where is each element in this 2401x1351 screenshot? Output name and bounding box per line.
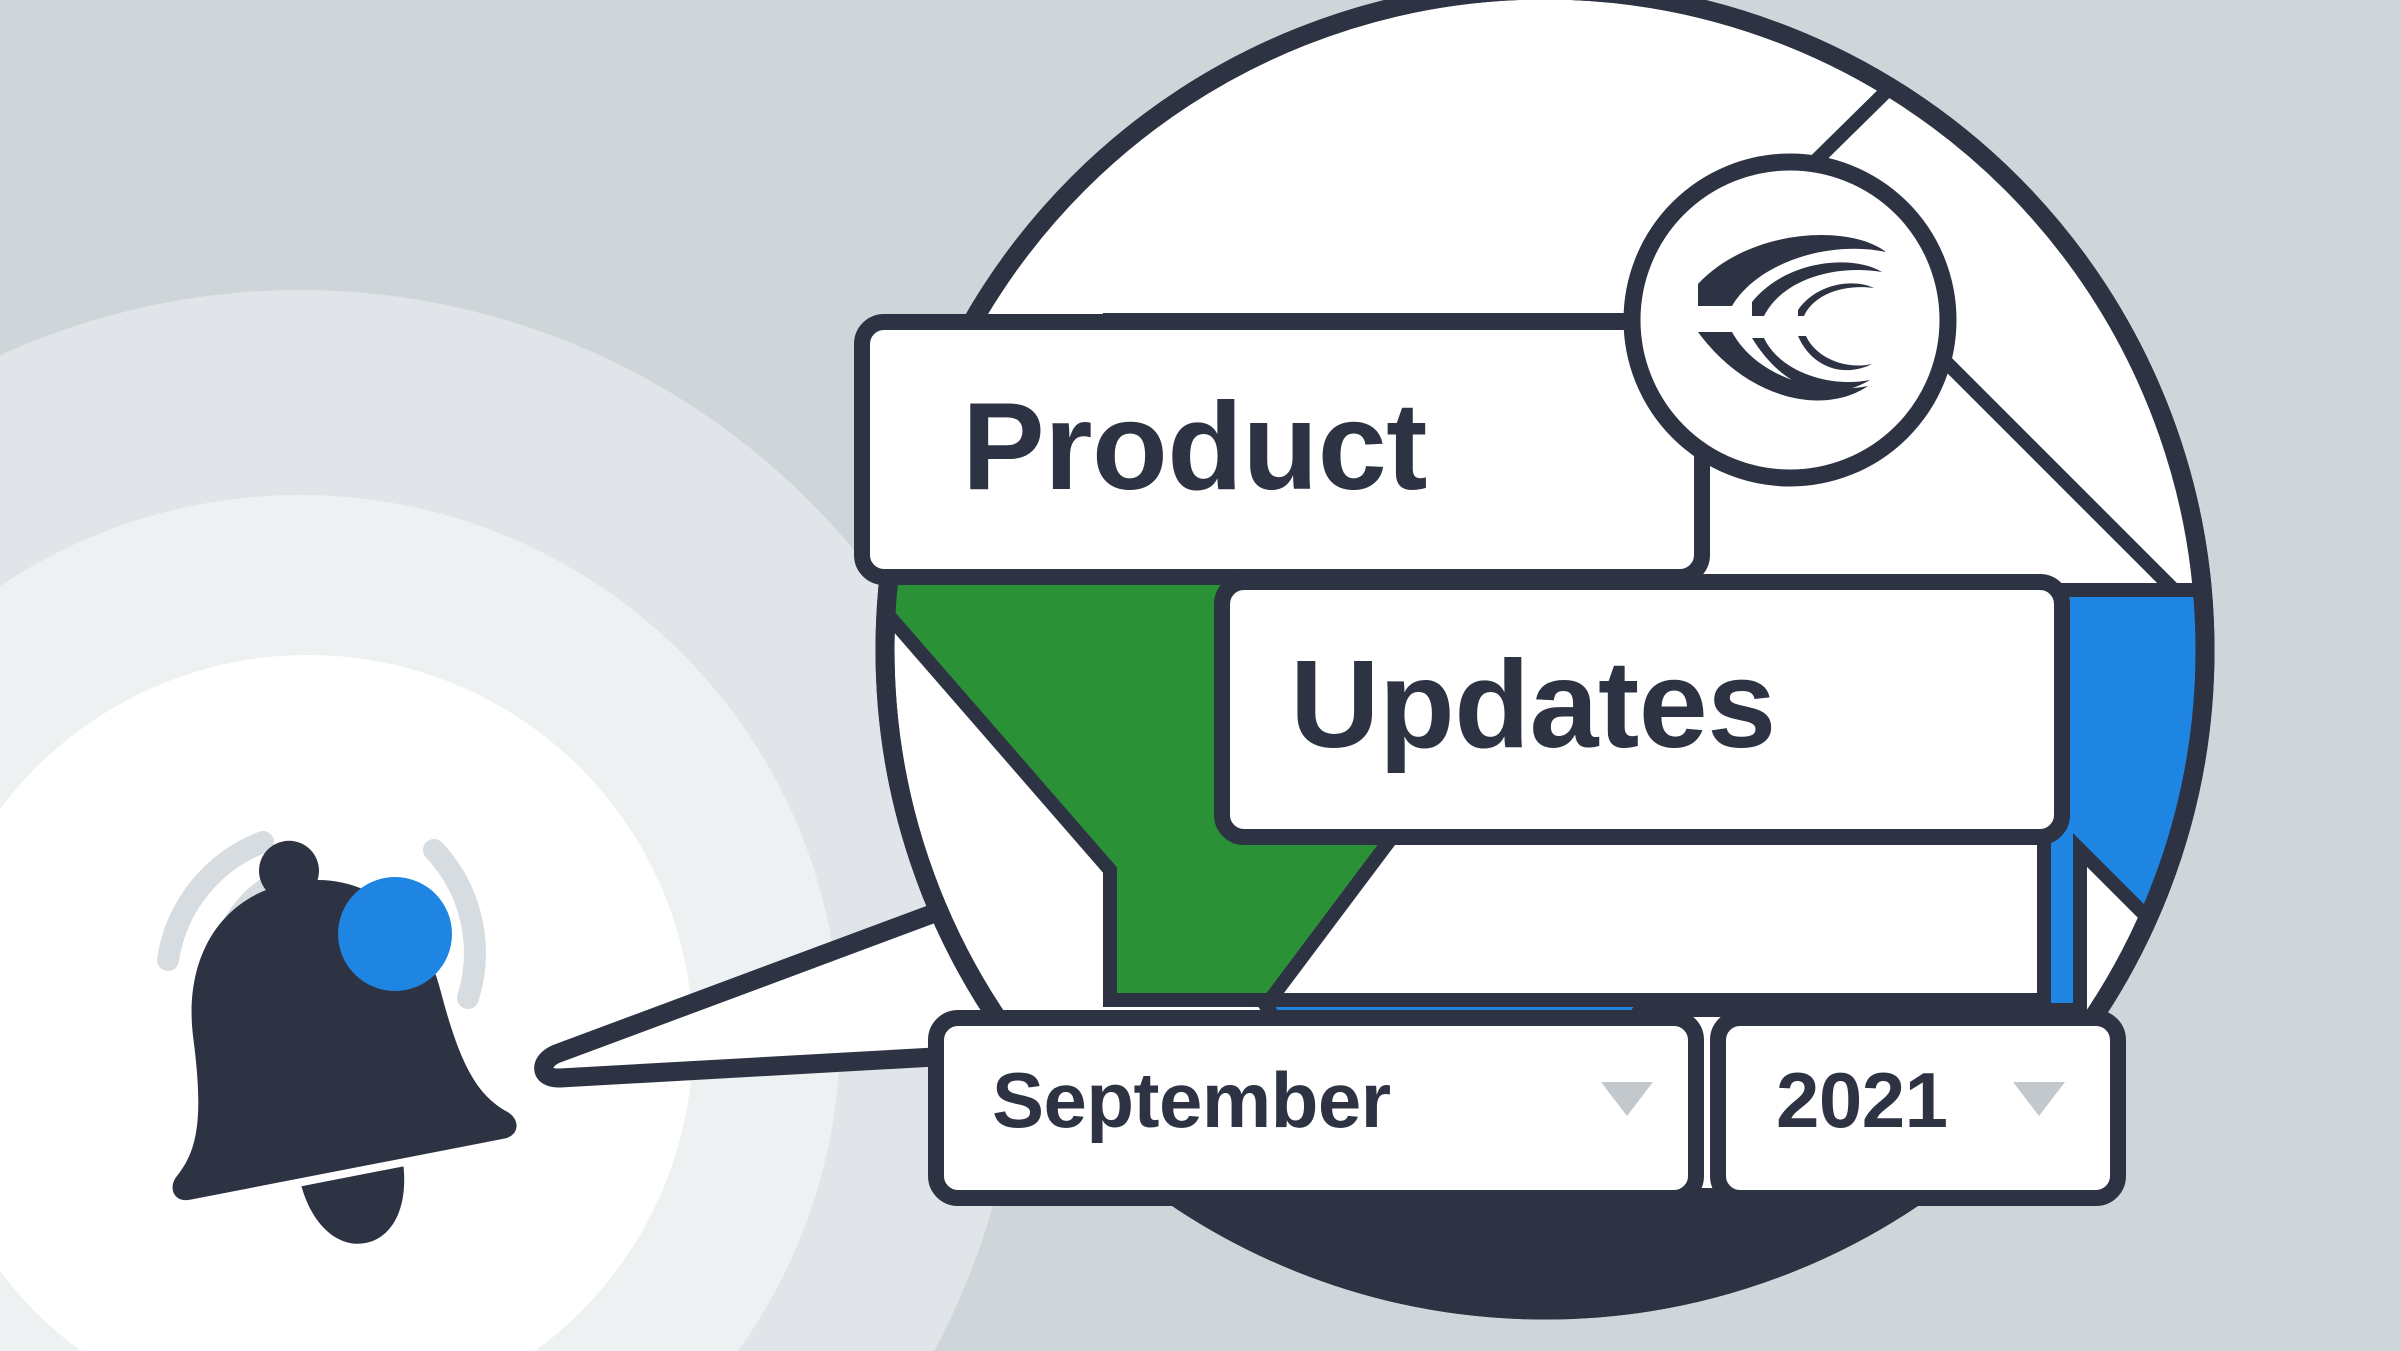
chevron-down-icon[interactable] [1601,1082,1653,1116]
banner-canvas: Product Updates September 2021 [0,0,2401,1351]
blue-dot-badge-icon [338,877,452,991]
brand-logo-badge [1632,162,1948,478]
updates-title-box [1222,582,2062,837]
product-title-box [862,322,1702,577]
banner-illustration [0,0,2401,1351]
brand-logo-circle [1632,162,1948,478]
month-dropdown-box [936,1018,1696,1198]
chevron-down-icon[interactable] [2013,1082,2065,1116]
